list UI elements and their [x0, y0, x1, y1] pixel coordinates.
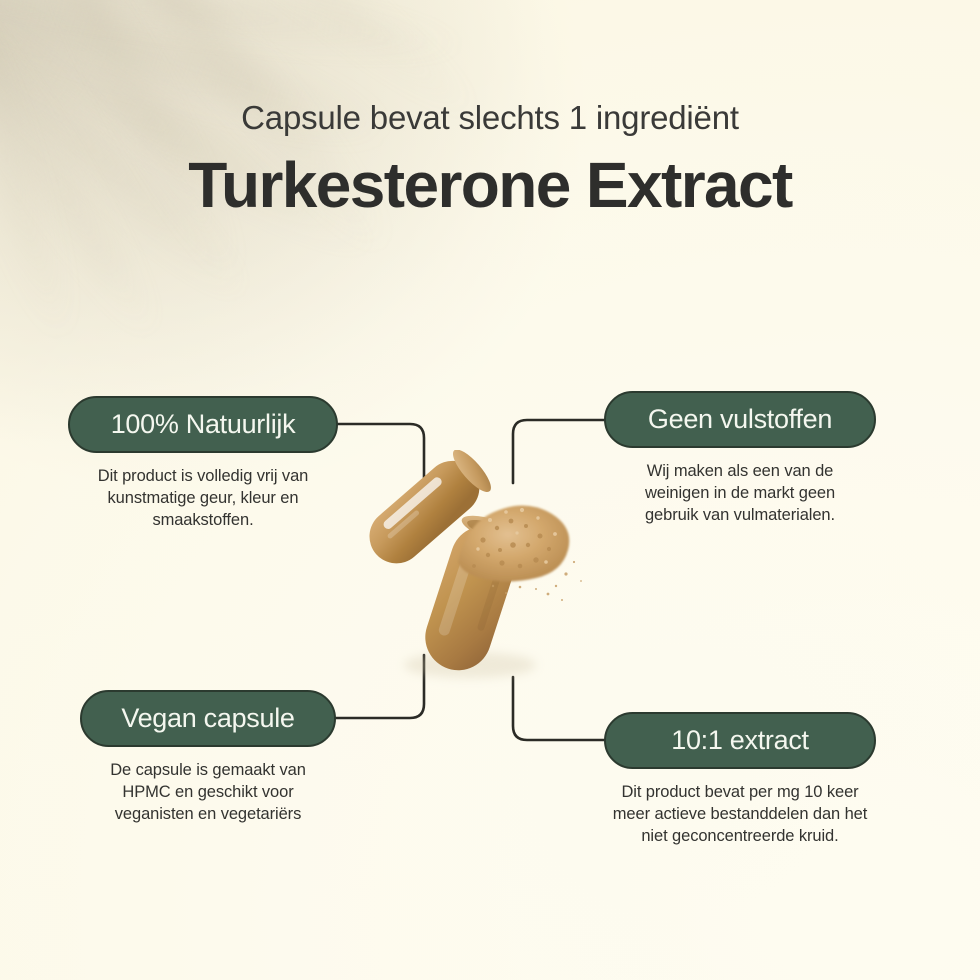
capsule-powder-illustration: [350, 450, 600, 690]
feature-badge-vegan[interactable]: Vegan capsule: [80, 690, 336, 747]
feature-vegan: Vegan capsule De capsule is gemaakt van …: [80, 690, 336, 826]
feature-vulstoffen: Geen vulstoffen Wij maken als een van de…: [604, 391, 876, 527]
feature-badge-extract[interactable]: 10:1 extract: [604, 712, 876, 769]
feature-natuurlijk: 100% Natuurlijk Dit product is volledig …: [68, 396, 338, 532]
feature-badge-natuurlijk[interactable]: 100% Natuurlijk: [68, 396, 338, 453]
feature-description-extract: Dit product bevat per mg 10 keer meer ac…: [604, 782, 876, 848]
product-infographic: Capsule bevat slechts 1 ingrediënt Turke…: [0, 0, 980, 980]
feature-description-vegan: De capsule is gemaakt van HPMC en geschi…: [84, 760, 332, 826]
page-subtitle: Capsule bevat slechts 1 ingrediënt: [0, 99, 980, 137]
feature-badge-vulstoffen[interactable]: Geen vulstoffen: [604, 391, 876, 448]
feature-description-vulstoffen: Wij maken als een van de weinigen in de …: [624, 461, 856, 527]
page-title: Turkesterone Extract: [0, 148, 980, 222]
feature-description-natuurlijk: Dit product is volledig vrij van kunstma…: [77, 466, 329, 532]
feature-extract: 10:1 extract Dit product bevat per mg 10…: [604, 712, 876, 848]
